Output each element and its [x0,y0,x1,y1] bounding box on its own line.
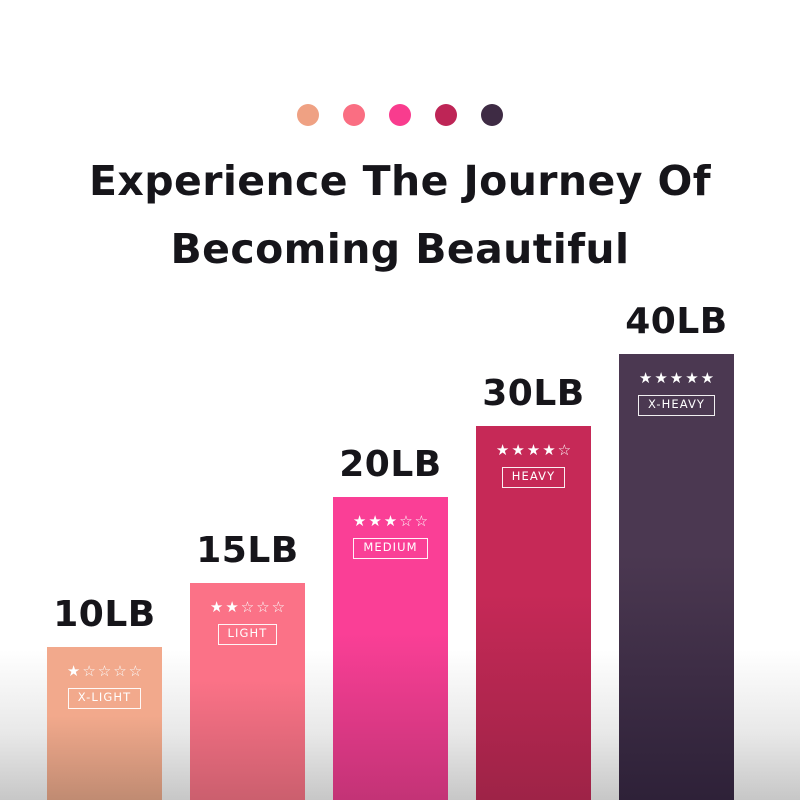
star-filled-icon: ★ [701,371,714,386]
star-empty-icon: ☆ [272,600,285,615]
star-filled-icon: ★ [670,371,683,386]
bar-column[interactable]: ★★☆☆☆LIGHT [190,583,305,800]
star-filled-icon: ★ [685,371,698,386]
star-filled-icon: ★ [542,443,555,458]
star-empty-icon: ☆ [98,664,111,679]
star-filled-icon: ★ [353,514,366,529]
intensity-badge: MEDIUM [353,538,427,559]
bar-value-label: 15LB [196,533,298,569]
star-empty-icon: ☆ [82,664,95,679]
star-empty-icon: ☆ [129,664,142,679]
bar-value-label: 40LB [625,304,727,340]
dot-x-heavy [481,104,503,126]
bar-column[interactable]: ★★★★☆HEAVY [476,426,591,800]
intensity-badge: LIGHT [218,624,278,645]
star-filled-icon: ★ [639,371,652,386]
star-rating: ★★★★☆ [496,443,571,458]
poster-canvas: Experience The Journey Of Becoming Beaut… [0,0,800,800]
bar-group-10lb[interactable]: 10LB★☆☆☆☆X-LIGHT [47,597,162,800]
star-rating: ★★★★★ [639,371,714,386]
star-empty-icon: ☆ [256,600,269,615]
star-empty-icon: ☆ [399,514,412,529]
star-filled-icon: ★ [225,600,238,615]
star-filled-icon: ★ [511,443,524,458]
star-empty-icon: ☆ [113,664,126,679]
star-filled-icon: ★ [67,664,80,679]
star-empty-icon: ☆ [558,443,571,458]
star-filled-icon: ★ [368,514,381,529]
page-title: Experience The Journey Of Becoming Beaut… [0,148,800,283]
bar-group-40lb[interactable]: 40LB★★★★★X-HEAVY [619,304,734,800]
star-filled-icon: ★ [384,514,397,529]
bar-group-30lb[interactable]: 30LB★★★★☆HEAVY [476,376,591,800]
dot-heavy [435,104,457,126]
star-filled-icon: ★ [496,443,509,458]
page-title-line-1: Experience The Journey Of [0,148,800,216]
star-empty-icon: ☆ [415,514,428,529]
bar-value-label: 20LB [339,447,441,483]
star-empty-icon: ☆ [241,600,254,615]
dot-medium [389,104,411,126]
color-swatch-row [0,104,800,126]
dot-light [343,104,365,126]
bar-group-20lb[interactable]: 20LB★★★☆☆MEDIUM [333,447,448,800]
bar-column[interactable]: ★★★☆☆MEDIUM [333,497,448,800]
bar-group-15lb[interactable]: 15LB★★☆☆☆LIGHT [190,533,305,800]
star-filled-icon: ★ [654,371,667,386]
bar-value-label: 10LB [53,597,155,633]
bar-column[interactable]: ★★★★★X-HEAVY [619,354,734,800]
bar-value-label: 30LB [482,376,584,412]
star-rating: ★★★☆☆ [353,514,428,529]
resistance-band-bar-chart: 10LB★☆☆☆☆X-LIGHT15LB★★☆☆☆LIGHT20LB★★★☆☆M… [47,290,753,800]
star-rating: ★★☆☆☆ [210,600,285,615]
bar-column[interactable]: ★☆☆☆☆X-LIGHT [47,647,162,800]
star-filled-icon: ★ [210,600,223,615]
intensity-badge: X-HEAVY [638,395,715,416]
intensity-badge: HEAVY [502,467,565,488]
page-title-line-2: Becoming Beautiful [0,216,800,284]
dot-x-light [297,104,319,126]
intensity-badge: X-LIGHT [68,688,142,709]
star-rating: ★☆☆☆☆ [67,664,142,679]
star-filled-icon: ★ [527,443,540,458]
